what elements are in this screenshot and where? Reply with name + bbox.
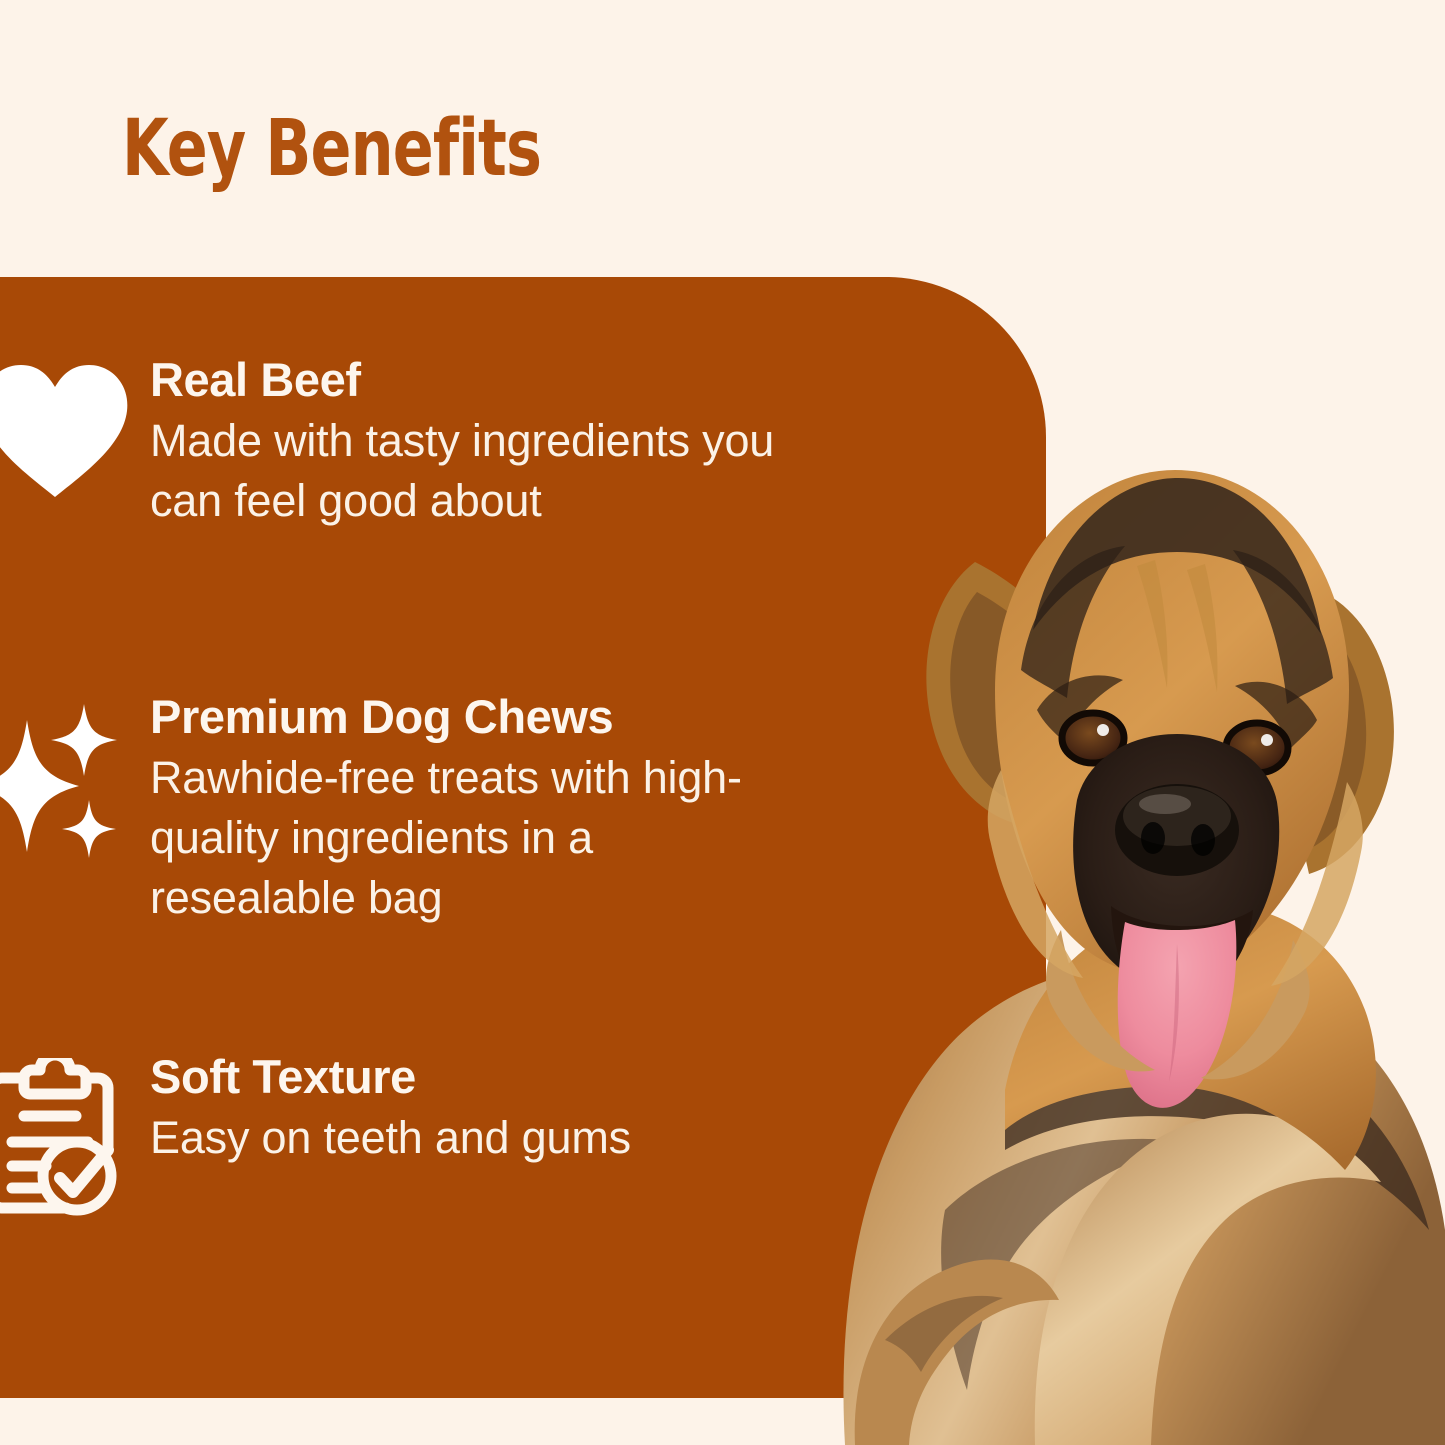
sparkles-icon bbox=[0, 692, 150, 862]
benefit-body: Rawhide-free treats with high-quality in… bbox=[150, 748, 790, 928]
benefits-panel: Real Beef Made with tasty ingredients yo… bbox=[0, 277, 1046, 1398]
benefit-text-premium-dog-chews: Premium Dog Chews Rawhide-free treats wi… bbox=[150, 692, 790, 927]
key-benefits-infographic: Key Benefits Real Beef Made with tasty i… bbox=[0, 0, 1445, 1445]
benefit-body: Easy on teeth and gums bbox=[150, 1108, 631, 1168]
benefit-item-real-beef: Real Beef Made with tasty ingredients yo… bbox=[0, 355, 790, 531]
benefit-item-premium-dog-chews: Premium Dog Chews Rawhide-free treats wi… bbox=[0, 692, 790, 927]
benefit-text-real-beef: Real Beef Made with tasty ingredients yo… bbox=[150, 355, 790, 531]
benefit-heading: Real Beef bbox=[150, 355, 790, 405]
page-title: Key Benefits bbox=[122, 110, 541, 188]
benefit-heading: Premium Dog Chews bbox=[150, 692, 790, 742]
benefit-body: Made with tasty ingredients you can feel… bbox=[150, 411, 790, 531]
benefit-item-soft-texture: Soft Texture Easy on teeth and gums bbox=[0, 1052, 631, 1222]
clipboard-check-icon bbox=[0, 1052, 150, 1222]
heart-icon bbox=[0, 355, 150, 525]
benefits-list: Real Beef Made with tasty ingredients yo… bbox=[0, 277, 1046, 1398]
benefit-heading: Soft Texture bbox=[150, 1052, 631, 1102]
benefit-text-soft-texture: Soft Texture Easy on teeth and gums bbox=[150, 1052, 631, 1168]
